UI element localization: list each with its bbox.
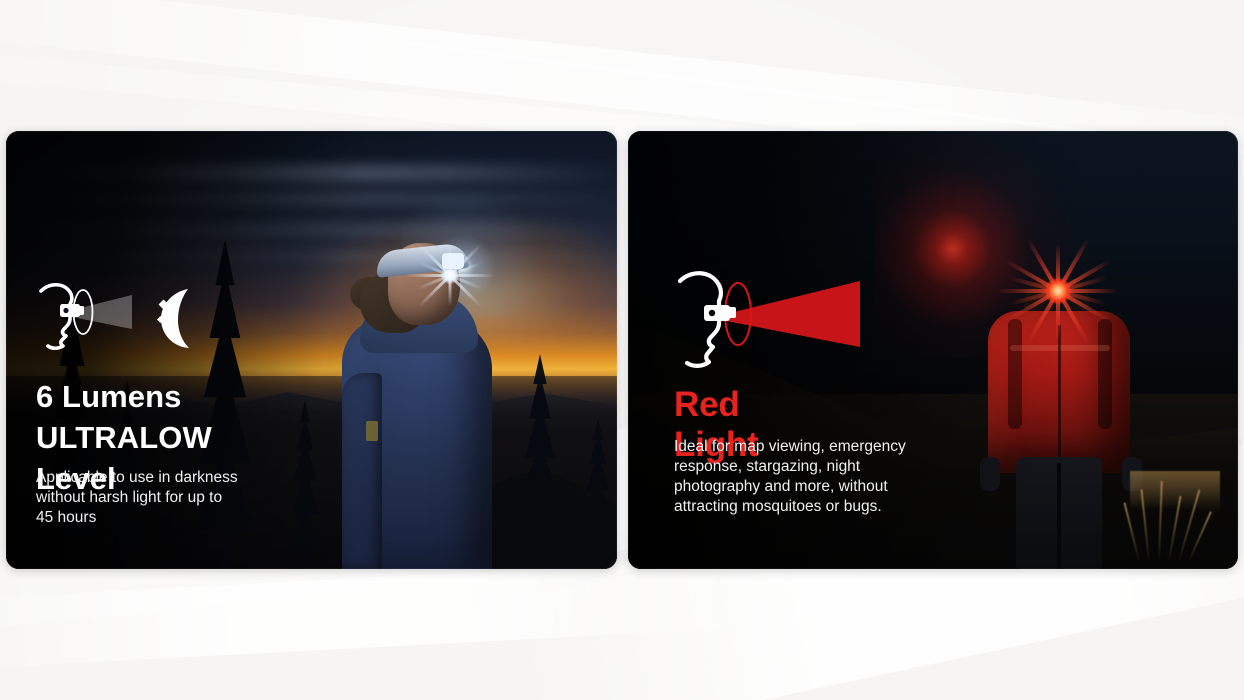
headlamp-red-beam-icon (674, 269, 874, 384)
red-light-description-line1: Ideal for map viewing, emergency (674, 437, 954, 457)
red-light-description-line3: photography and more, without (674, 477, 954, 497)
ultralow-description-line1: Applicable to use in darkness (36, 468, 336, 488)
feature-cards-page: 6 Lumens ULTRALOW Level Applicable to us… (0, 0, 1244, 700)
headlamp-beam-moon-icon (36, 279, 216, 362)
ultralow-feature-card[interactable]: 6 Lumens ULTRALOW Level Applicable to us… (6, 131, 617, 569)
streak-6 (0, 557, 761, 670)
cards-row: 6 Lumens ULTRALOW Level Applicable to us… (6, 131, 1238, 569)
ultralow-description: Applicable to use in darkness without ha… (36, 468, 336, 528)
ultralow-description-line3: 45 hours (36, 508, 336, 528)
ultralow-headline-line1: 6 Lumens (36, 376, 212, 417)
ultralow-description-line2: without harsh light for up to (36, 488, 336, 508)
red-light-description-line4: attracting mosquitoes or bugs. (674, 497, 954, 517)
red-light-description-line2: response, stargazing, night (674, 457, 954, 477)
red-light-description: Ideal for map viewing, emergency respons… (674, 437, 954, 517)
red-light-feature-card[interactable]: Red Light Ideal for map viewing, emergen… (628, 131, 1238, 569)
